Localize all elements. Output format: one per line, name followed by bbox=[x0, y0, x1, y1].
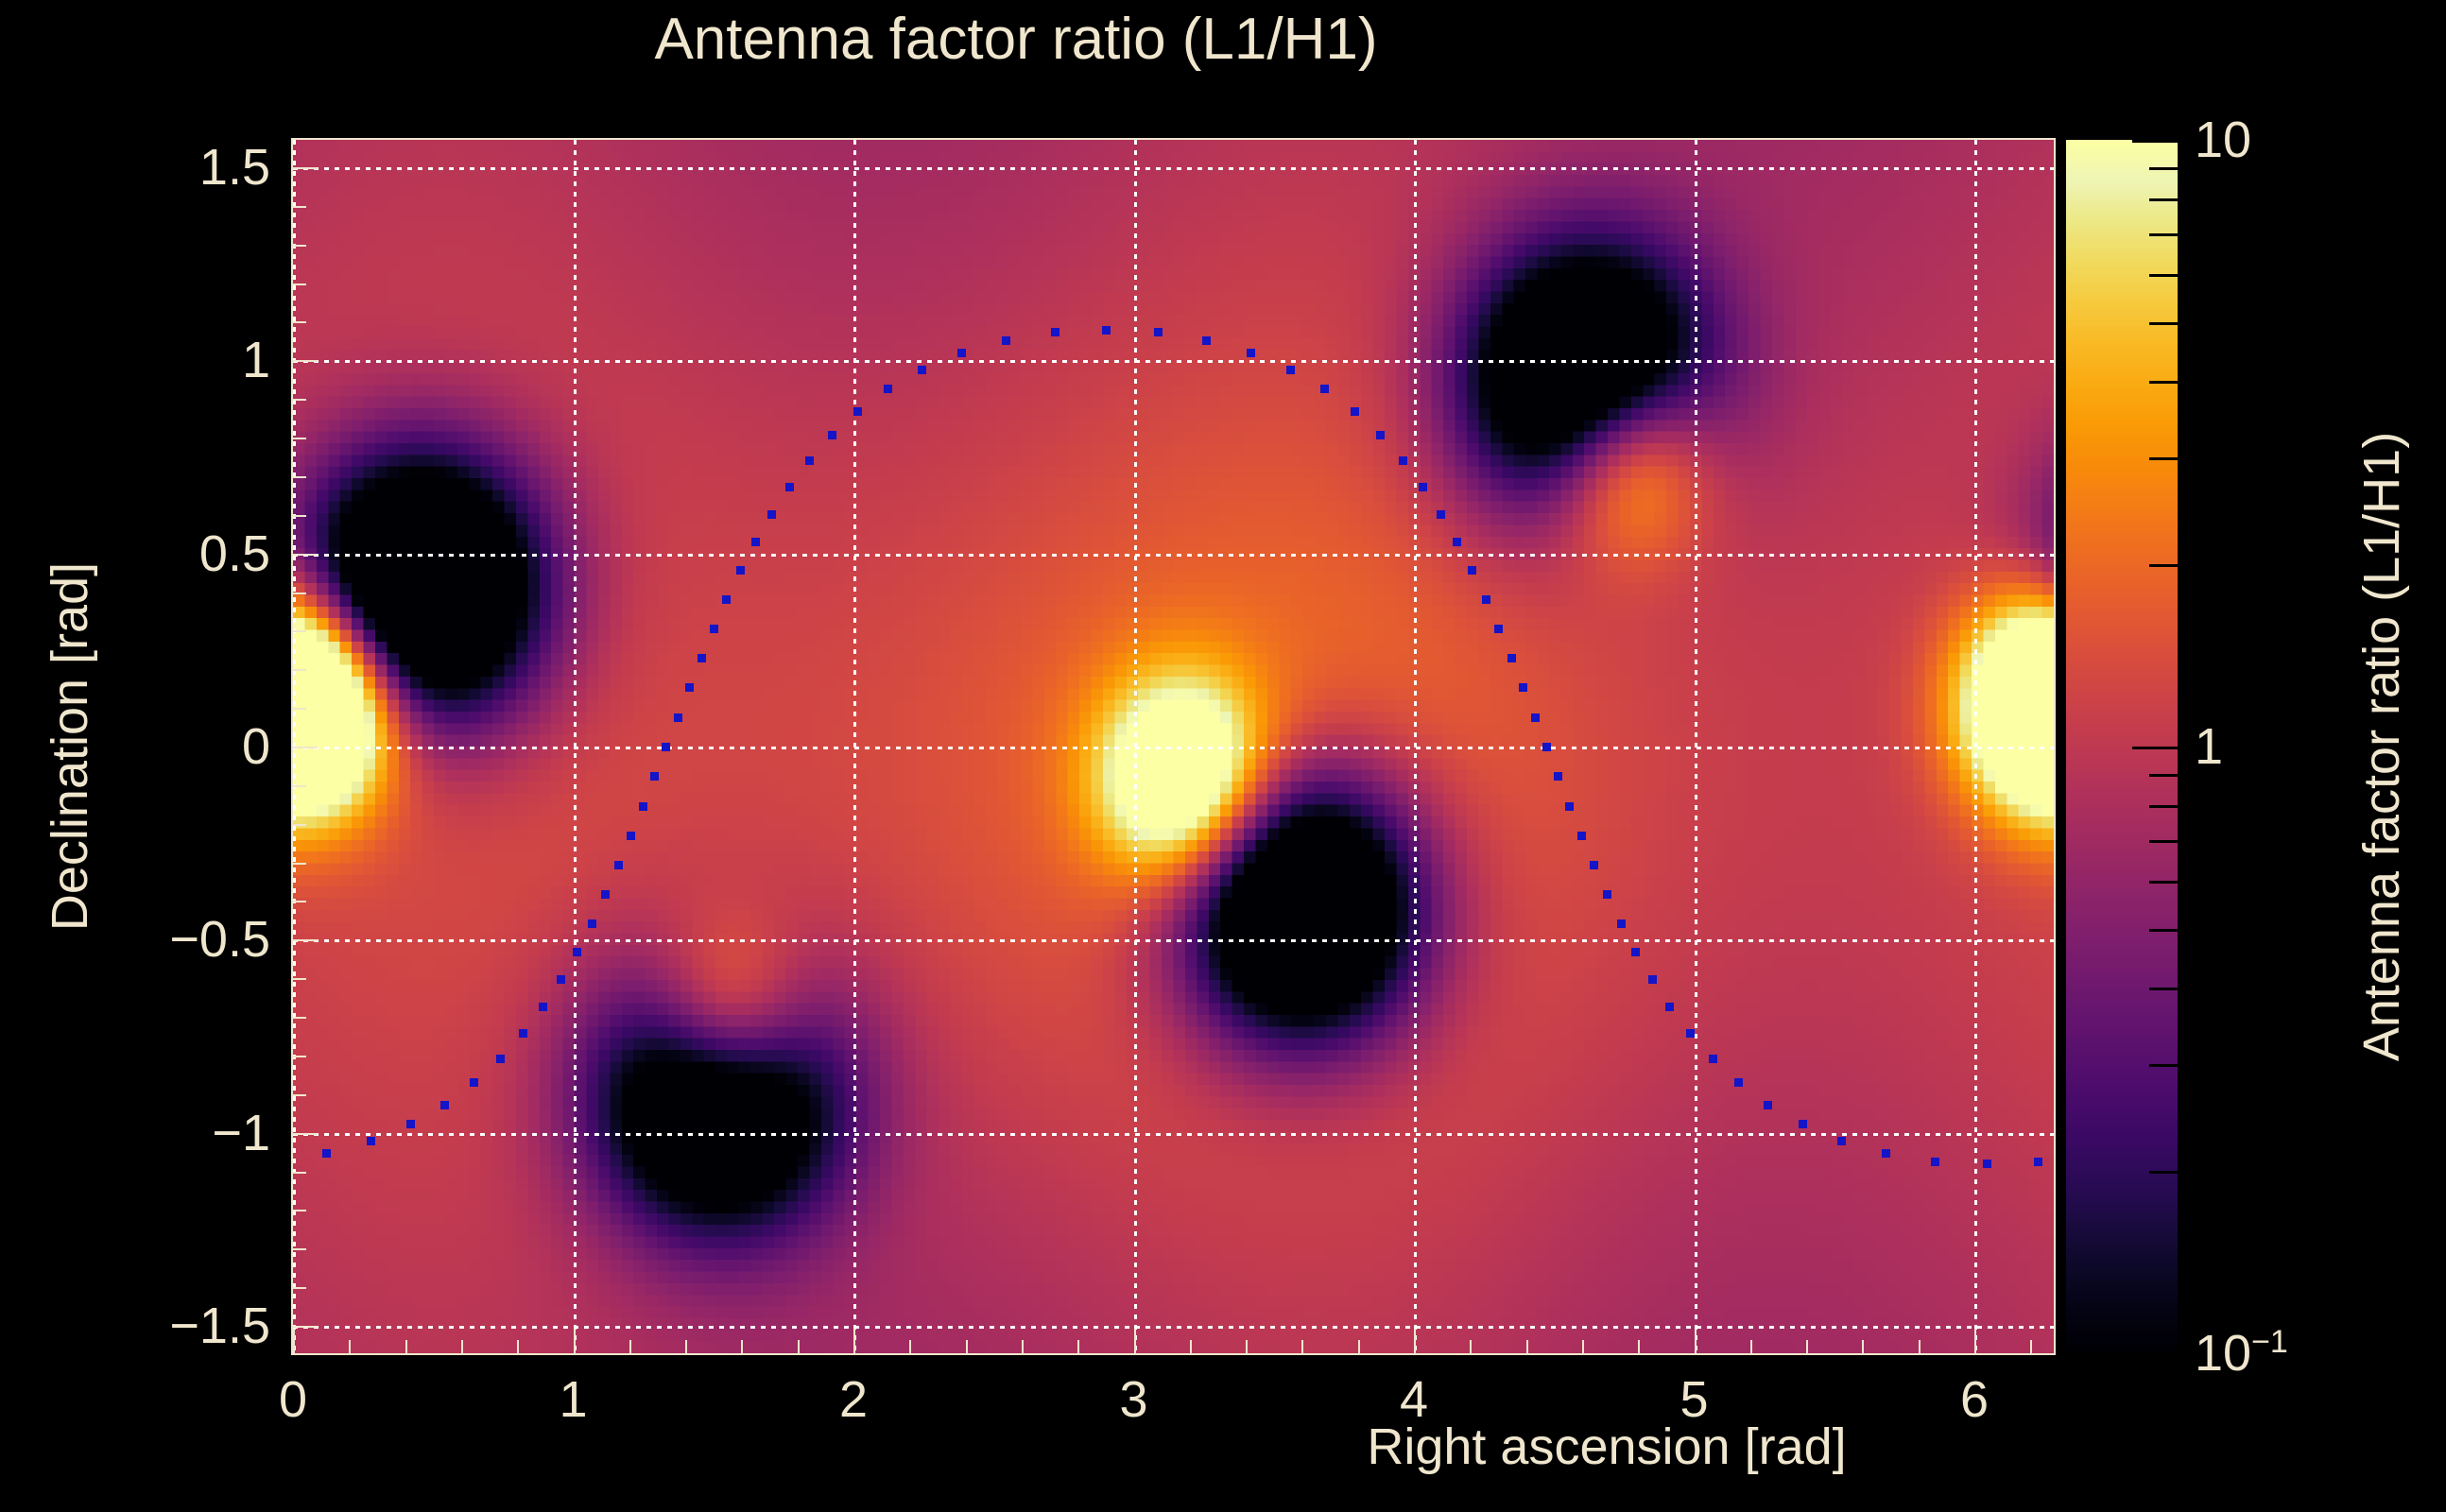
x-tick-minor bbox=[461, 1340, 463, 1353]
y-tick-major bbox=[293, 1326, 318, 1328]
y-tick-minor bbox=[293, 515, 306, 517]
x-tick-major bbox=[1974, 1329, 1976, 1353]
x-tick-minor bbox=[1470, 1340, 1472, 1353]
y-axis-title: Declination [rad] bbox=[41, 562, 99, 931]
y-tick-minor bbox=[293, 399, 306, 401]
heatmap-image bbox=[293, 140, 2054, 1353]
y-tick-minor bbox=[293, 245, 306, 247]
y-tick-minor bbox=[293, 901, 306, 902]
colorbar-label-bottom: 10−1 bbox=[2195, 1324, 2288, 1383]
y-tick-minor bbox=[293, 1287, 306, 1289]
x-tick-minor bbox=[909, 1340, 911, 1353]
y-tick-major bbox=[293, 1133, 318, 1135]
x-tick-minor bbox=[629, 1340, 631, 1353]
y-tick-minor bbox=[293, 978, 306, 980]
x-tick-minor bbox=[1190, 1340, 1192, 1353]
x-tick-major bbox=[574, 1329, 576, 1353]
y-tick-minor bbox=[293, 630, 306, 632]
colorbar-label-top: 10 bbox=[2195, 111, 2251, 169]
y-tick-minor bbox=[293, 824, 306, 826]
x-tick-minor bbox=[1638, 1340, 1640, 1353]
y-tick-minor bbox=[293, 1056, 306, 1057]
y-tick-minor bbox=[293, 438, 306, 439]
y-tick-minor bbox=[293, 1017, 306, 1019]
x-tick-minor bbox=[1806, 1340, 1808, 1353]
x-tick-minor bbox=[798, 1340, 800, 1353]
x-tick-label: 1 bbox=[559, 1370, 587, 1429]
y-tick-major bbox=[293, 167, 318, 169]
x-tick-minor bbox=[1750, 1340, 1752, 1353]
x-tick-minor bbox=[2030, 1340, 2032, 1353]
y-tick-minor bbox=[293, 1248, 306, 1250]
x-tick-minor bbox=[1358, 1340, 1360, 1353]
figure-canvas: Antenna factor ratio (L1/H1) 0123456 1.5… bbox=[0, 0, 2446, 1512]
x-tick-minor bbox=[405, 1340, 407, 1353]
x-tick-major bbox=[1414, 1329, 1416, 1353]
y-tick-major bbox=[293, 554, 318, 556]
x-tick-label: 6 bbox=[1960, 1370, 1989, 1429]
colorbar bbox=[2066, 140, 2178, 1353]
y-tick-label: 0 bbox=[142, 717, 270, 776]
x-tick-minor bbox=[1862, 1340, 1864, 1353]
x-tick-label: 0 bbox=[279, 1370, 307, 1429]
y-tick-label: 1 bbox=[142, 331, 270, 389]
y-tick-major bbox=[293, 939, 318, 941]
x-tick-minor bbox=[1077, 1340, 1079, 1353]
x-tick-minor bbox=[1301, 1340, 1303, 1353]
y-tick-minor bbox=[293, 708, 306, 710]
y-tick-label: −1.5 bbox=[142, 1297, 270, 1355]
x-tick-minor bbox=[1246, 1340, 1248, 1353]
y-tick-minor bbox=[293, 785, 306, 787]
y-tick-label: 1.5 bbox=[142, 138, 270, 197]
x-tick-minor bbox=[741, 1340, 743, 1353]
x-tick-minor bbox=[349, 1340, 351, 1353]
colorbar-tick-major bbox=[2132, 1353, 2178, 1356]
chart-title: Antenna factor ratio (L1/H1) bbox=[0, 6, 2032, 73]
y-tick-minor bbox=[293, 476, 306, 478]
x-tick-label: 3 bbox=[1119, 1370, 1147, 1429]
y-tick-major bbox=[293, 747, 318, 748]
y-tick-minor bbox=[293, 669, 306, 671]
y-tick-minor bbox=[293, 321, 306, 323]
x-axis-title: Right ascension [rad] bbox=[1367, 1417, 1846, 1476]
y-tick-minor bbox=[293, 1094, 306, 1096]
x-tick-minor bbox=[685, 1340, 687, 1353]
y-tick-minor bbox=[293, 863, 306, 865]
x-tick-minor bbox=[1582, 1340, 1584, 1353]
y-tick-label: −0.5 bbox=[142, 910, 270, 969]
y-tick-minor bbox=[293, 283, 306, 285]
colorbar-label-bottom-base: 10 bbox=[2195, 1325, 2251, 1382]
x-tick-major bbox=[1134, 1329, 1136, 1353]
y-tick-label: 0.5 bbox=[142, 524, 270, 583]
x-tick-minor bbox=[1022, 1340, 1024, 1353]
x-tick-label: 2 bbox=[839, 1370, 868, 1429]
x-tick-major bbox=[853, 1329, 855, 1353]
x-tick-minor bbox=[517, 1340, 519, 1353]
x-tick-minor bbox=[1919, 1340, 1921, 1353]
y-tick-major bbox=[293, 360, 318, 362]
x-tick-minor bbox=[966, 1340, 968, 1353]
y-tick-minor bbox=[293, 206, 306, 208]
x-tick-major bbox=[1695, 1329, 1697, 1353]
y-tick-label: −1 bbox=[142, 1104, 270, 1162]
x-tick-major bbox=[293, 1329, 295, 1353]
colorbar-label-bottom-exponent: −1 bbox=[2251, 1324, 2288, 1360]
colorbar-title: Antenna factor ratio (L1/H1) bbox=[2352, 432, 2411, 1061]
heatmap-plot-area bbox=[293, 140, 2054, 1353]
x-tick-minor bbox=[1526, 1340, 1528, 1353]
y-tick-minor bbox=[293, 1210, 306, 1211]
colorbar-label-mid: 1 bbox=[2195, 717, 2223, 776]
y-tick-minor bbox=[293, 1172, 306, 1174]
y-tick-minor bbox=[293, 593, 306, 594]
